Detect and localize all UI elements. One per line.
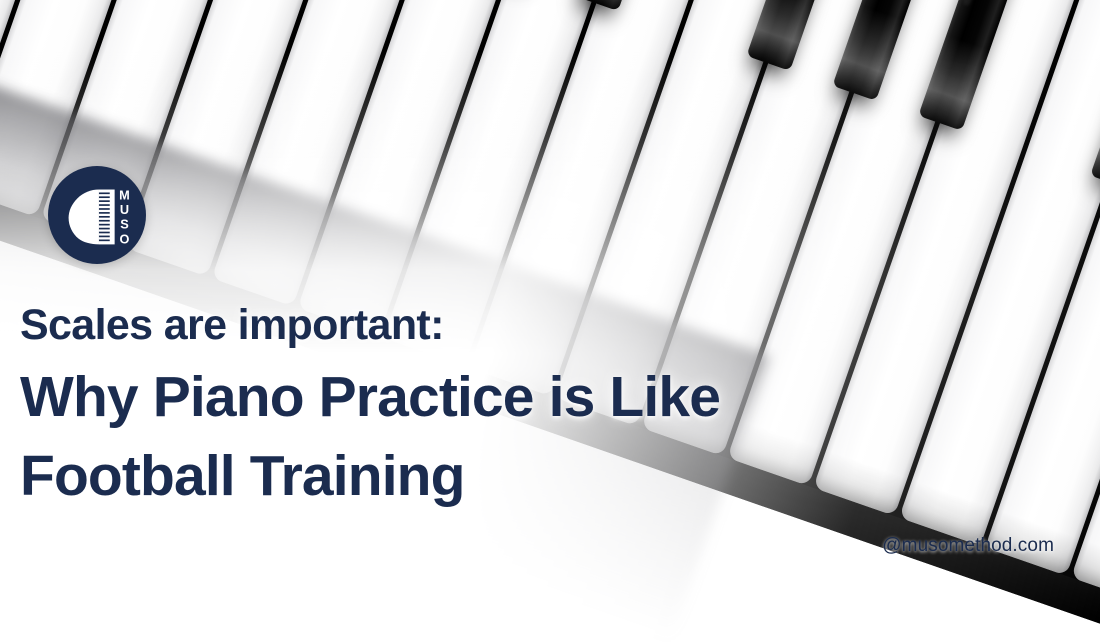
logo-letter-o: O bbox=[119, 231, 129, 246]
site-handle[interactable]: @musomethod.com bbox=[882, 535, 1054, 557]
logo-letter-m: M bbox=[119, 187, 130, 202]
headline-block: Scales are important: Why Piano Practice… bbox=[20, 304, 900, 505]
muso-logo[interactable]: M U S O bbox=[48, 166, 146, 264]
logo-letter-u: U bbox=[120, 202, 129, 217]
headline-line-2: Football Training bbox=[20, 448, 900, 505]
logo-letter-s: S bbox=[120, 217, 129, 232]
headline-kicker: Scales are important: bbox=[20, 304, 900, 347]
blog-banner: M U S O Scales are important: Why Piano … bbox=[0, 0, 1100, 642]
headline-line-1: Why Piano Practice is Like bbox=[20, 369, 900, 426]
grand-piano-icon: M U S O bbox=[48, 166, 146, 264]
